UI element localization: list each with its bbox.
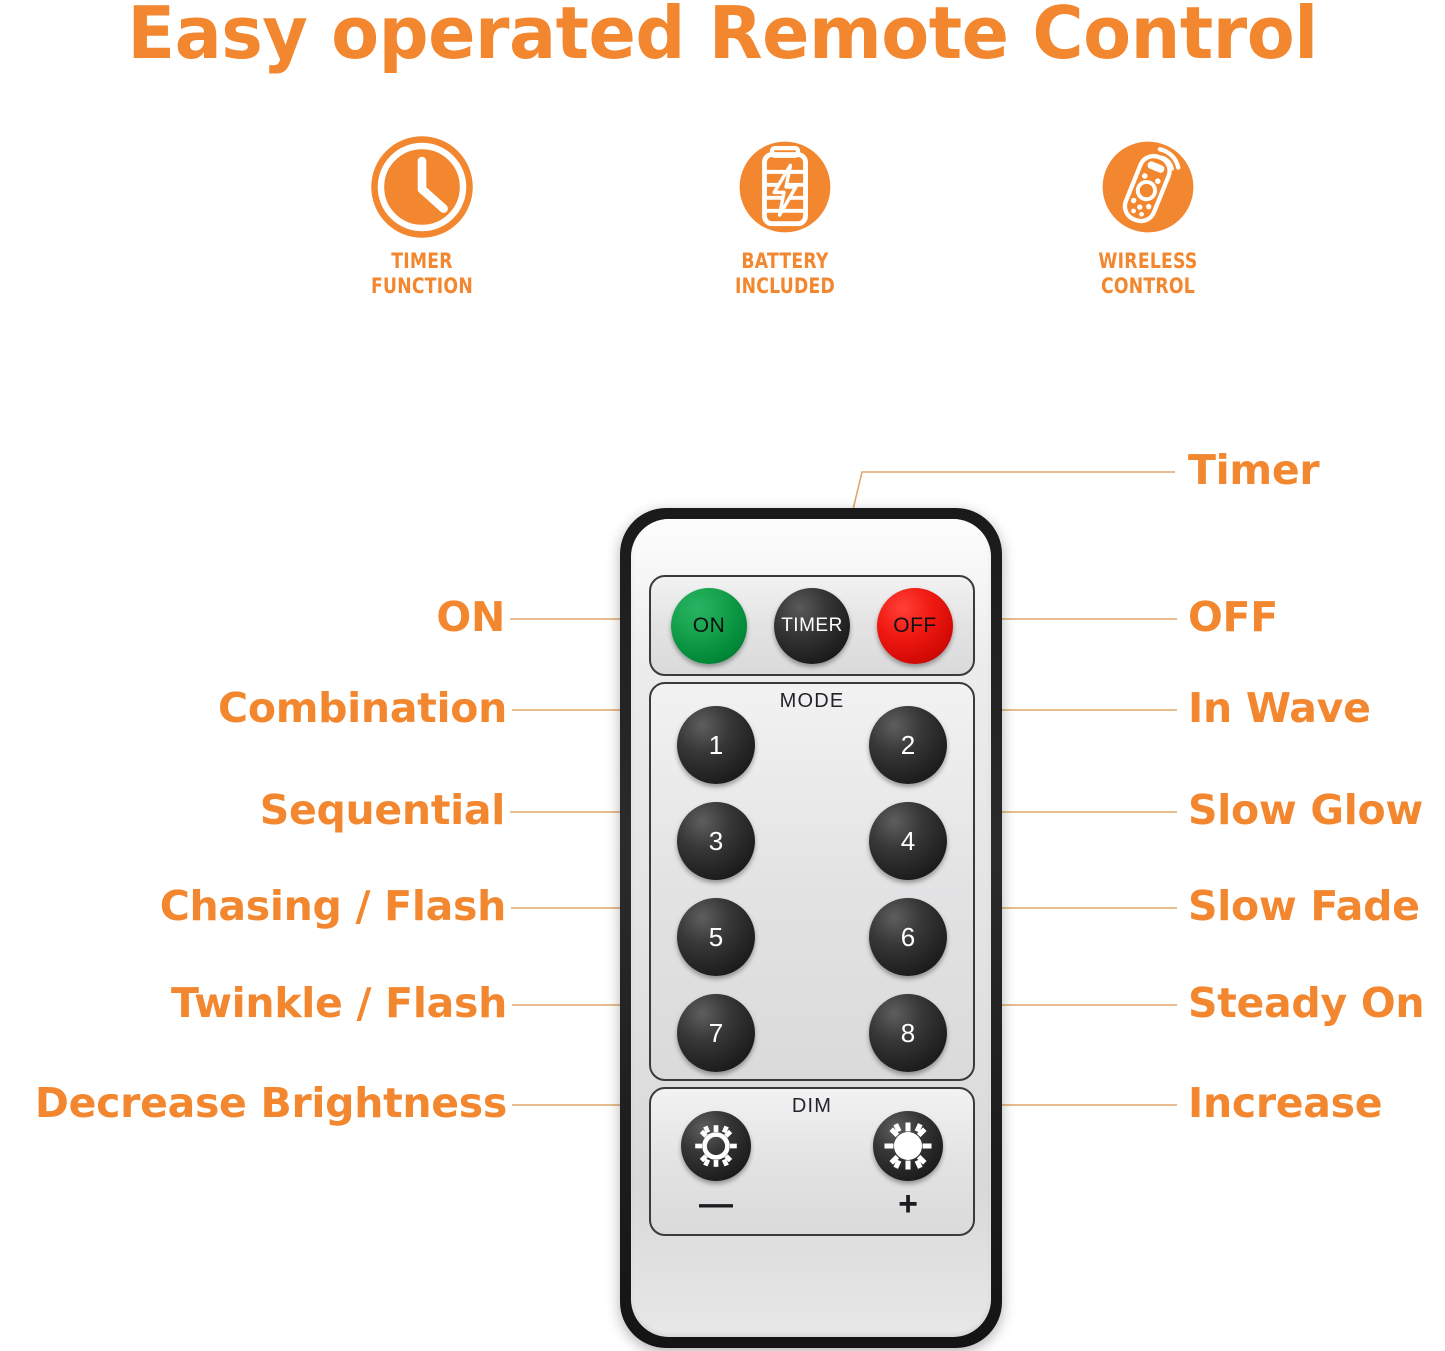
- feature-badge-wireless: WIRELESS CONTROL: [1018, 133, 1278, 299]
- dim-decrease-sign: —: [681, 1187, 751, 1221]
- callout-label-on: ON: [180, 597, 505, 638]
- button-8-label: 8: [901, 1018, 915, 1049]
- callout-label-off: OFF: [1188, 597, 1278, 638]
- callout-label-increase: Increase: [1188, 1083, 1382, 1124]
- feature-badge-timer: TIMER FUNCTION: [292, 133, 552, 299]
- button-5-label: 5: [709, 922, 723, 953]
- button-7[interactable]: 7: [677, 994, 755, 1072]
- feature-label: TIMER FUNCTION: [315, 249, 528, 299]
- feature-badge-battery: BATTERY INCLUDED: [655, 133, 915, 299]
- callout-label-slow-fade: Slow Fade: [1188, 886, 1420, 927]
- battery-icon: [731, 133, 839, 241]
- page-title: Easy operated Remote Control: [22, 0, 1424, 72]
- button-timer[interactable]: TIMER: [774, 588, 850, 664]
- button-8[interactable]: 8: [869, 994, 947, 1072]
- callout-label-twinkle-flash: Twinkle / Flash: [100, 983, 507, 1024]
- button-1-label: 1: [709, 730, 723, 761]
- button-off[interactable]: OFF: [877, 588, 953, 664]
- button-7-label: 7: [709, 1018, 723, 1049]
- dim-panel: DIM: [649, 1087, 975, 1236]
- button-2-label: 2: [901, 730, 915, 761]
- dim-increase-sign: +: [873, 1187, 943, 1221]
- remote-faceplate: ON TIMER OFF MODE 1 2 3 4 5 6: [631, 519, 991, 1337]
- brightness-low-icon: [690, 1120, 742, 1172]
- button-on-label: ON: [693, 614, 726, 638]
- button-2[interactable]: 2: [869, 706, 947, 784]
- button-dim-down[interactable]: [681, 1111, 751, 1181]
- button-6-label: 6: [901, 922, 915, 953]
- callout-label-in-wave: In Wave: [1188, 688, 1371, 729]
- button-4[interactable]: 4: [869, 802, 947, 880]
- button-on[interactable]: ON: [671, 588, 747, 664]
- mode-panel: MODE 1 2 3 4 5 6 7 8: [649, 682, 975, 1081]
- feature-badge-row: TIMER FUNCTION BATTERY INCLUDED: [0, 133, 1445, 313]
- button-3-label: 3: [709, 826, 723, 857]
- callout-label-slow-glow: Slow Glow: [1188, 790, 1423, 831]
- remote-icon: [1094, 133, 1202, 241]
- button-timer-label: TIMER: [781, 615, 843, 637]
- button-6[interactable]: 6: [869, 898, 947, 976]
- feature-label: BATTERY INCLUDED: [678, 249, 891, 299]
- callout-label-chasing-flash: Chasing / Flash: [100, 886, 506, 927]
- callout-label-timer: Timer: [1188, 450, 1319, 491]
- clock-icon: [368, 133, 476, 241]
- callout-label-sequential: Sequential: [180, 790, 505, 831]
- button-5[interactable]: 5: [677, 898, 755, 976]
- remote-control-device: ON TIMER OFF MODE 1 2 3 4 5 6: [620, 508, 1002, 1348]
- callout-label-decrease-brightness: Decrease Brightness: [10, 1083, 507, 1124]
- callout-label-combination: Combination: [180, 688, 507, 729]
- button-4-label: 4: [901, 826, 915, 857]
- button-1[interactable]: 1: [677, 706, 755, 784]
- brightness-high-icon: [880, 1118, 936, 1174]
- button-3[interactable]: 3: [677, 802, 755, 880]
- power-panel: ON TIMER OFF: [649, 575, 975, 676]
- feature-label: WIRELESS CONTROL: [1041, 249, 1254, 299]
- callout-label-steady-on: Steady On: [1188, 983, 1424, 1024]
- button-dim-up[interactable]: [873, 1111, 943, 1181]
- button-off-label: OFF: [893, 614, 937, 638]
